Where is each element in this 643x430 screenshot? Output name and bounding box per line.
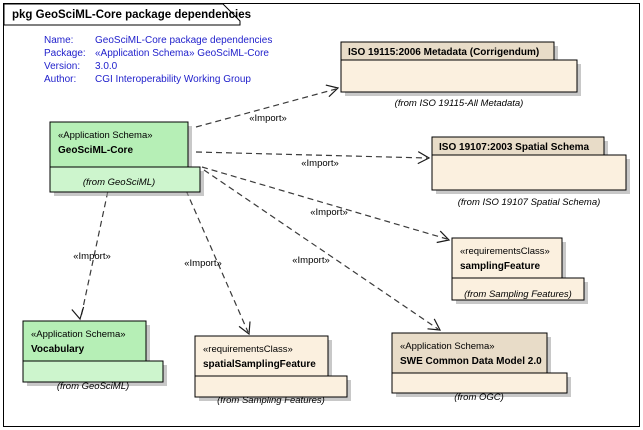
package-title: ISO 19115:2006 Metadata (Corrigendum) [348, 47, 539, 58]
package-stereotype: «Application Schema» [58, 130, 153, 141]
dependency-line [202, 167, 447, 239]
dependency-edge-layer: «Import»«Import»«Import»«Import»«Import»… [72, 82, 451, 336]
dependency-label: «Import» [249, 113, 287, 124]
metadata-block: Name: GeoSciML-Core package dependencies… [44, 35, 272, 85]
dependency-core-to-iso19115[interactable]: «Import» [196, 82, 340, 127]
package-body [23, 361, 163, 382]
package-from-label: (from GeoSciML) [57, 381, 129, 392]
dependency-label: «Import» [301, 158, 339, 169]
package-sampling-feature[interactable]: «requirementsClass»samplingFeature(from … [452, 238, 588, 304]
metadata-key-2: Version: [44, 61, 80, 72]
package-from-label: (from ISO 19107 Spatial Schema) [458, 197, 601, 208]
dependency-label: «Import» [310, 207, 348, 218]
metadata-value-1: «Application Schema» GeoSciML-Core [95, 48, 269, 59]
package-stereotype: «requirementsClass» [460, 246, 550, 257]
package-title: samplingFeature [460, 261, 540, 272]
dependency-core-to-swe-common[interactable]: «Import» [204, 170, 443, 335]
package-iso-19107[interactable]: ISO 19107:2003 Spatial Schema(from ISO 1… [432, 137, 630, 208]
package-vocabulary[interactable]: «Application Schema»Vocabulary(from GeoS… [23, 321, 167, 392]
package-body [392, 373, 567, 393]
metadata-key-3: Author: [44, 74, 76, 85]
package-layer: «Application Schema»GeoSciML-Core(from G… [23, 42, 630, 406]
metadata-key-0: Name: [44, 35, 73, 46]
metadata-value-0: GeoSciML-Core package dependencies [95, 35, 272, 46]
dependency-label: «Import» [184, 258, 222, 269]
package-geosciml-core[interactable]: «Application Schema»GeoSciML-Core(from G… [50, 122, 204, 196]
package-stereotype: «Application Schema» [31, 329, 126, 340]
package-header [23, 321, 146, 361]
package-swe-common[interactable]: «Application Schema»SWE Common Data Mode… [392, 333, 571, 403]
package-body [432, 155, 626, 190]
dependency-core-to-sampling-feature[interactable]: «Import» [202, 167, 451, 246]
dependency-label: «Import» [73, 251, 111, 262]
package-header [392, 333, 547, 373]
package-title: SWE Common Data Model 2.0 [400, 356, 542, 367]
package-body [195, 376, 347, 397]
package-from-label: (from OGC) [454, 392, 504, 403]
package-spatial-sampling-feature[interactable]: «requirementsClass»spatialSamplingFeatur… [195, 336, 351, 406]
package-from-label: (from GeoSciML) [83, 177, 155, 188]
package-from-label: (from Sampling Features) [217, 395, 325, 406]
metadata-value-2: 3.0.0 [95, 61, 118, 72]
dependency-label: «Import» [292, 255, 330, 266]
package-title: ISO 19107:2003 Spatial Schema [439, 142, 590, 153]
dependency-core-to-iso19107[interactable]: «Import» [196, 152, 429, 169]
uml-package-diagram: pkg GeoSciML-Core package dependencies N… [0, 0, 643, 430]
package-title: Vocabulary [31, 344, 85, 355]
dependency-arrowhead [72, 307, 86, 320]
package-from-label: (from ISO 19115-All Metadata) [395, 98, 524, 109]
metadata-key-1: Package: [44, 48, 86, 59]
package-header [452, 238, 562, 278]
metadata-value-3: CGI Interoperability Working Group [95, 74, 251, 85]
package-title: spatialSamplingFeature [203, 359, 316, 370]
dependency-line [204, 170, 438, 329]
package-body [341, 60, 577, 92]
package-title: GeoSciML-Core [58, 145, 133, 156]
package-stereotype: «Application Schema» [400, 341, 495, 352]
dependency-core-to-spatial-sampling[interactable]: «Import» [178, 172, 254, 336]
diagram-title-label: pkg GeoSciML-Core package dependencies [12, 9, 251, 21]
package-stereotype: «requirementsClass» [203, 344, 293, 355]
package-from-label: (from Sampling Features) [464, 289, 572, 300]
package-iso-19115[interactable]: ISO 19115:2006 Metadata (Corrigendum)(fr… [341, 42, 581, 109]
diagram-canvas: pkg GeoSciML-Core package dependencies N… [0, 0, 643, 430]
package-header [195, 336, 328, 376]
